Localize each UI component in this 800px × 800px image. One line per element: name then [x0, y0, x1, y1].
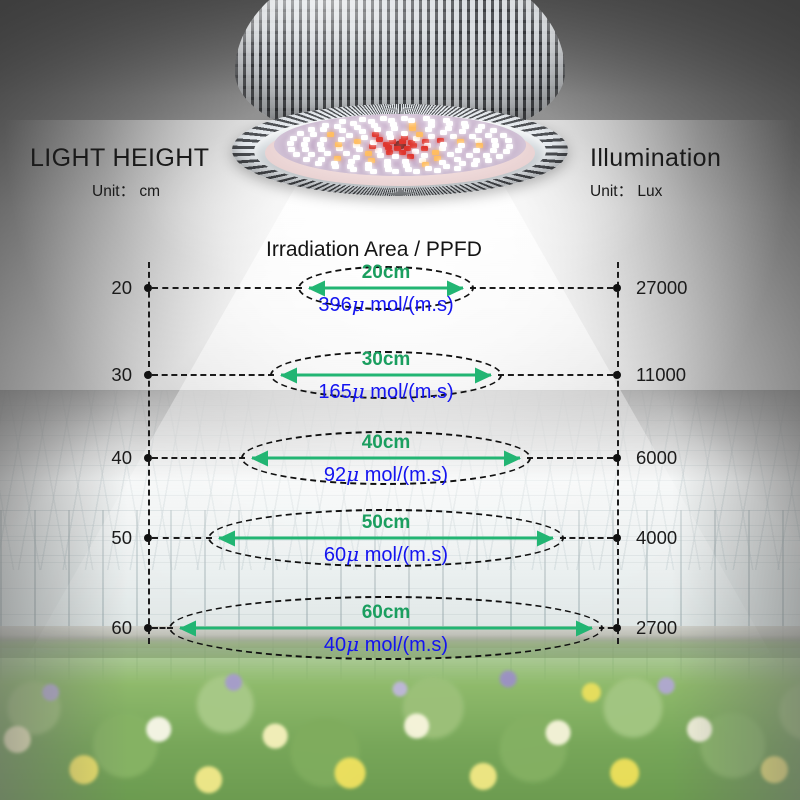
led-white	[491, 138, 498, 143]
led-white	[447, 152, 454, 157]
led-red	[399, 150, 406, 155]
led-white	[503, 149, 510, 154]
led-white	[496, 154, 503, 159]
led-white	[425, 166, 432, 171]
led-white	[320, 127, 327, 132]
led-warm-white	[327, 132, 334, 137]
led-white	[455, 148, 462, 153]
ppfd-label-20: 396μ mol/(m.s)	[318, 292, 453, 317]
led-warm-white	[432, 150, 439, 155]
led-white	[302, 147, 309, 152]
led-white	[339, 128, 346, 133]
led-white	[303, 137, 310, 142]
led-white	[423, 116, 430, 121]
led-white	[386, 131, 393, 136]
led-white	[443, 118, 450, 123]
led-white	[478, 124, 485, 129]
led-white	[485, 133, 492, 138]
led-white	[434, 168, 441, 173]
double-headed-arrow-icon	[252, 457, 520, 460]
led-white	[450, 134, 457, 139]
led-white	[405, 167, 412, 172]
led-board	[274, 114, 526, 176]
led-red	[376, 137, 383, 142]
led-red	[421, 146, 428, 151]
led-white	[473, 148, 480, 153]
led-white	[370, 169, 377, 174]
led-warm-white	[416, 132, 423, 137]
led-red	[407, 154, 414, 159]
led-white	[334, 124, 341, 129]
double-headed-arrow-icon	[180, 627, 592, 630]
double-headed-arrow-icon	[309, 287, 463, 290]
led-white	[350, 121, 357, 126]
led-white	[483, 153, 490, 158]
led-white	[322, 123, 329, 128]
grow-light-bulb-icon	[235, 0, 565, 204]
led-white	[401, 131, 408, 136]
led-white	[461, 121, 468, 126]
ppfd-label-30: 165μ mol/(m.s)	[318, 379, 453, 404]
led-white	[317, 142, 324, 147]
led-white	[297, 131, 304, 136]
led-white	[401, 116, 408, 121]
led-white	[506, 144, 513, 149]
led-red	[372, 132, 379, 137]
led-white	[421, 153, 428, 158]
led-white	[443, 164, 450, 169]
led-white	[332, 164, 339, 169]
right-axis-heading: Illumination Unit： Lux	[590, 144, 721, 201]
led-white	[459, 129, 466, 134]
led-white	[318, 147, 325, 152]
led-white	[375, 148, 382, 153]
led-white	[338, 137, 345, 142]
led-white	[350, 167, 357, 172]
irradiation-area-label-50: 50cm	[362, 512, 411, 534]
left-axis-heading: LIGHT HEIGHT Unit： cm	[30, 144, 209, 201]
led-warm-white	[354, 139, 361, 144]
led-white	[336, 146, 343, 151]
measurement-row: 50cm60μ mol/(m.s)	[0, 509, 800, 567]
led-white	[466, 153, 473, 158]
double-headed-arrow-icon	[281, 374, 491, 377]
led-white	[377, 153, 384, 158]
center-chart-title: Irradiation Area / PPFD	[266, 238, 482, 262]
led-white	[385, 167, 392, 172]
led-white	[368, 119, 375, 124]
led-white	[359, 129, 366, 134]
grow-light-irradiation-diagram: LIGHT HEIGHT Unit： cm Illumination Unit：…	[0, 0, 800, 800]
measurement-row: 20cm396μ mol/(m.s)	[0, 266, 800, 310]
led-white	[439, 146, 446, 151]
led-white	[346, 133, 353, 138]
irradiation-area-label-20: 20cm	[362, 262, 411, 284]
measurement-row: 40cm92μ mol/(m.s)	[0, 431, 800, 485]
right-axis-title: Illumination	[590, 144, 721, 173]
led-white	[359, 117, 366, 122]
irradiation-area-label-30: 30cm	[362, 349, 411, 371]
irradiation-area-label-60: 60cm	[362, 602, 411, 624]
led-white	[308, 127, 315, 132]
measurement-row: 30cm165μ mol/(m.s)	[0, 351, 800, 399]
ppfd-label-40: 92μ mol/(m.s)	[324, 462, 448, 487]
led-white	[413, 136, 420, 141]
led-white	[445, 126, 452, 131]
ppfd-label-60: 40μ mol/(m.s)	[324, 632, 448, 657]
irradiation-area-label-40: 40cm	[362, 432, 411, 454]
led-white	[392, 169, 399, 174]
led-white	[440, 130, 447, 135]
led-white	[490, 148, 497, 153]
right-axis-unit: Unit： Lux	[590, 179, 721, 201]
led-white	[388, 118, 395, 123]
left-axis-unit: Unit： cm	[30, 179, 209, 201]
led-white	[301, 142, 308, 147]
led-white	[408, 118, 415, 123]
led-white	[428, 123, 435, 128]
led-white	[361, 135, 368, 140]
led-white	[343, 151, 350, 156]
led-white	[485, 158, 492, 163]
led-white	[290, 136, 297, 141]
led-white	[339, 119, 346, 124]
led-red	[410, 143, 417, 148]
led-white	[454, 166, 461, 171]
led-white	[288, 147, 295, 152]
led-warm-white	[365, 151, 372, 156]
led-white	[324, 151, 331, 156]
double-headed-arrow-icon	[219, 537, 553, 540]
led-white	[320, 137, 327, 142]
led-white	[471, 162, 478, 167]
led-white	[303, 157, 310, 162]
led-white	[425, 127, 432, 132]
led-white	[428, 134, 435, 139]
led-white	[413, 169, 420, 174]
led-white	[380, 116, 387, 121]
led-white	[310, 132, 317, 137]
led-white	[287, 141, 294, 146]
led-white	[356, 147, 363, 152]
ppfd-label-50: 60μ mol/(m.s)	[324, 542, 448, 567]
led-white	[315, 161, 322, 166]
measurement-row: 60cm40μ mol/(m.s)	[0, 596, 800, 660]
led-white	[392, 154, 399, 159]
led-white	[505, 138, 512, 143]
led-white	[293, 152, 300, 157]
left-axis-title: LIGHT HEIGHT	[30, 144, 209, 173]
led-warm-white	[335, 142, 342, 147]
led-white	[490, 128, 497, 133]
